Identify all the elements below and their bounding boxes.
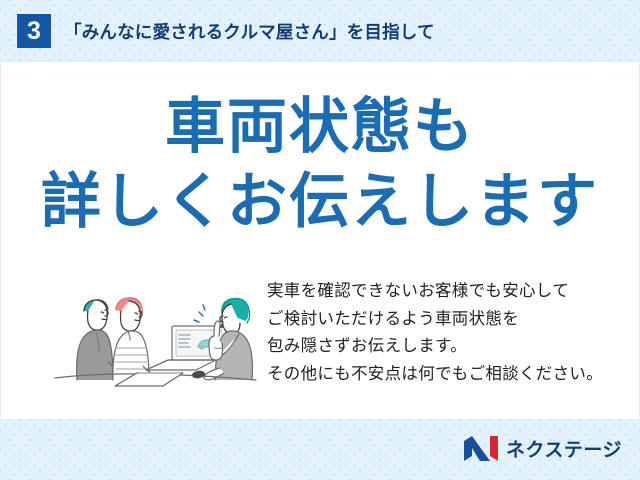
promo-slide: 3 「みんなに愛されるクルマ屋さん」を目指して 車両状態も 詳しくお伝えします — [0, 0, 640, 480]
consultation-illustration — [53, 274, 258, 389]
headline-line-1: 車両状態も — [1, 96, 639, 158]
nextage-n-logo-icon — [463, 435, 499, 462]
body-line-1: 実車を確認できないお客様でも安心して — [267, 278, 627, 306]
header-title: 「みんなに愛されるクルマ屋さん」を目指して — [64, 19, 435, 44]
body-line-2: ご検討いただけるよう車両状態を — [267, 306, 627, 334]
headline: 車両状態も 詳しくお伝えします — [1, 96, 639, 234]
illustration-svg — [53, 274, 258, 389]
step-number-badge: 3 — [17, 14, 51, 48]
header-bar: 3 「みんなに愛されるクルマ屋さん」を目指して — [0, 0, 640, 62]
brand-logo: ネクステージ — [463, 431, 622, 465]
body-paragraph: 実車を確認できないお客様でも安心して ご検討いただけるよう車両状態を 包み隠さず… — [267, 278, 627, 388]
staff-figure — [204, 298, 253, 380]
content-card: 車両状態も 詳しくお伝えします — [1, 62, 639, 419]
female-customer-figure — [113, 298, 154, 380]
emphasis-marks — [194, 305, 205, 322]
body-line-4: その他にも不安点は何でもご相談ください。 — [267, 361, 627, 389]
brand-name: ネクステージ — [506, 435, 622, 462]
lower-section: 実車を確認できないお客様でも安心して ご検討いただけるよう車両状態を 包み隠さず… — [1, 274, 639, 414]
body-line-3: 包み隠さずお伝えします。 — [267, 333, 627, 361]
footer-bar: ネクステージ — [0, 419, 640, 480]
headline-line-2: 詳しくお伝えします — [1, 171, 639, 233]
